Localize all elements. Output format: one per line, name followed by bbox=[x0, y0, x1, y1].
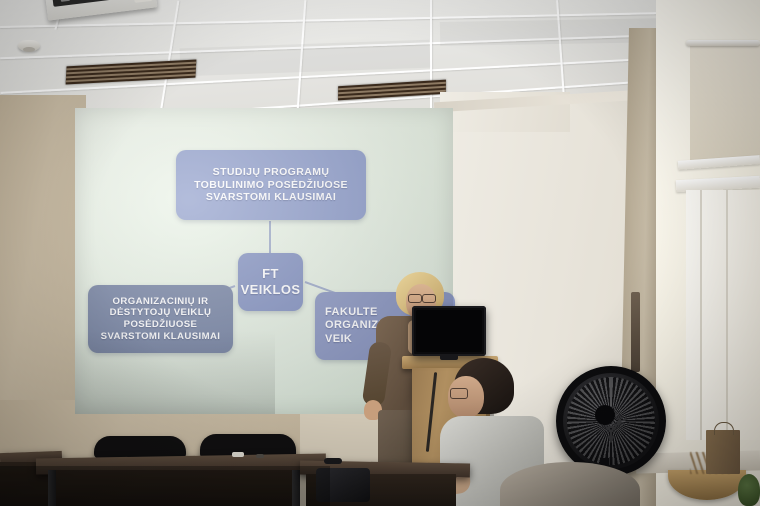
smoke-detector-icon bbox=[18, 40, 40, 51]
ceiling-projector bbox=[45, 0, 158, 21]
chair[interactable] bbox=[94, 436, 186, 458]
slide-node-left-line3: POSĖDŽIUOSE bbox=[101, 319, 221, 331]
blind-rail bbox=[686, 40, 760, 46]
window-blind bbox=[690, 44, 760, 164]
screen-shadow bbox=[75, 330, 275, 414]
curtain-fold bbox=[726, 190, 728, 440]
slide-node-center-line1: FT bbox=[241, 266, 301, 282]
slide-node-center: FT VEIKLOS bbox=[238, 253, 303, 311]
lecture-hall-photo: STUDIJŲ PROGRAMŲ TOBULINIMO POSĖDŽIUOSE … bbox=[0, 0, 760, 506]
slide-node-left-line1: ORGANIZACINIŲ IR bbox=[101, 296, 221, 308]
presenter-glasses-icon bbox=[408, 294, 422, 303]
attendee-glasses-icon bbox=[450, 388, 468, 399]
slide-node-top-line3: SVARSTOMI KLAUSIMAI bbox=[194, 191, 348, 204]
curtain-fold bbox=[700, 190, 702, 440]
window-curtain bbox=[686, 190, 760, 440]
paper-bag bbox=[706, 430, 740, 474]
potted-plant bbox=[738, 474, 760, 506]
bag-handle bbox=[714, 422, 734, 435]
fan-hub bbox=[595, 405, 615, 425]
air-vent-left bbox=[66, 60, 197, 85]
connector-top bbox=[269, 221, 271, 254]
fan-ring bbox=[556, 366, 666, 476]
pillar-handle bbox=[631, 292, 640, 372]
foreground-shadow bbox=[0, 466, 330, 506]
desk-item[interactable] bbox=[232, 452, 244, 457]
flat-panel-monitor[interactable] bbox=[412, 306, 486, 356]
desk-item[interactable] bbox=[256, 454, 264, 458]
presenter-glasses-icon bbox=[422, 294, 436, 303]
slide-node-top: STUDIJŲ PROGRAMŲ TOBULINIMO POSĖDŽIUOSE … bbox=[176, 150, 366, 220]
desk-item[interactable] bbox=[324, 458, 342, 464]
slide-node-top-line1: STUDIJŲ PROGRAMŲ bbox=[194, 166, 348, 179]
slide-node-center-line2: VEIKLOS bbox=[241, 282, 301, 298]
slide-node-top-line2: TOBULINIMO POSĖDŽIUOSE bbox=[194, 179, 348, 192]
slide-node-left-line2: DĖSTYTOJŲ VEIKLŲ bbox=[101, 307, 221, 319]
